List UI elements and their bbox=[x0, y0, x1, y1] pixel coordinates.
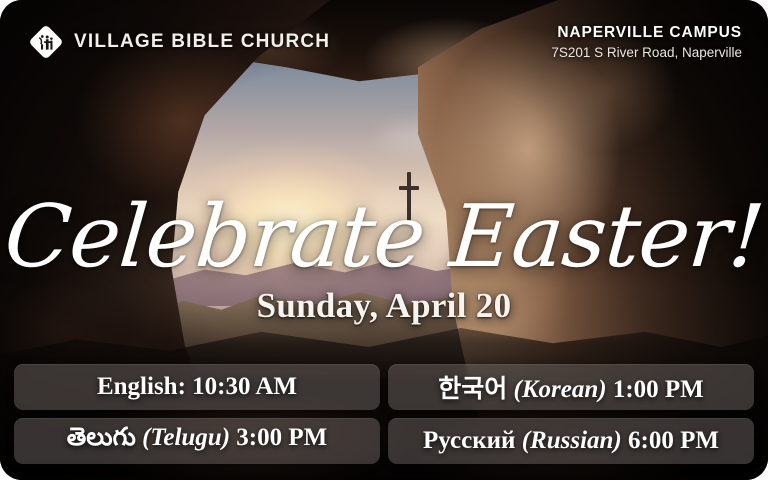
service-time-label: English: 10:30 AM bbox=[97, 373, 297, 401]
easter-service-poster: VILLAGE BIBLE CHURCH NAPERVILLE CAMPUS 7… bbox=[0, 0, 768, 480]
brand-lockup: VILLAGE BIBLE CHURCH bbox=[28, 24, 330, 60]
service-language-paren: (Russian) bbox=[522, 427, 622, 454]
service-language-native: తెలుగు bbox=[67, 424, 136, 451]
service-time-value: 6:00 PM bbox=[628, 427, 719, 454]
campus-info: NAPERVILLE CAMPUS 7S201 S River Road, Na… bbox=[551, 24, 742, 60]
service-language-native: 한국어 bbox=[438, 376, 507, 403]
service-time-value: 10:30 AM bbox=[192, 373, 297, 400]
service-time-telugu[interactable]: తెలుగు (Telugu) 3:00 PM bbox=[14, 418, 380, 464]
service-time-label: తెలుగు (Telugu) 3:00 PM bbox=[67, 424, 328, 458]
service-time-value: 1:00 PM bbox=[613, 376, 704, 403]
service-time-russian[interactable]: Русский (Russian) 6:00 PM bbox=[388, 418, 754, 464]
service-time-label: Русский (Russian) 6:00 PM bbox=[423, 427, 719, 455]
page-title: Celebrate Easter! bbox=[0, 198, 768, 277]
service-language-native: English: bbox=[97, 373, 186, 400]
service-language-paren: (Korean) bbox=[514, 376, 607, 403]
service-times-grid: English: 10:30 AM 한국어 (Korean) 1:00 PM త… bbox=[14, 364, 754, 464]
service-time-label: 한국어 (Korean) 1:00 PM bbox=[438, 369, 704, 405]
service-time-english[interactable]: English: 10:30 AM bbox=[14, 364, 380, 410]
service-language-native: Русский bbox=[423, 427, 515, 454]
event-date: Sunday, April 20 bbox=[0, 286, 768, 326]
brand-name: VILLAGE BIBLE CHURCH bbox=[74, 31, 330, 53]
service-time-value: 3:00 PM bbox=[236, 424, 327, 451]
poster-header: VILLAGE BIBLE CHURCH NAPERVILLE CAMPUS 7… bbox=[0, 0, 768, 84]
service-time-korean[interactable]: 한국어 (Korean) 1:00 PM bbox=[388, 364, 754, 410]
campus-address: 7S201 S River Road, Naperville bbox=[551, 45, 742, 60]
campus-name: NAPERVILLE CAMPUS bbox=[551, 24, 742, 42]
service-language-paren: (Telugu) bbox=[142, 424, 230, 451]
village-bible-church-diamond-logo-icon bbox=[28, 24, 64, 60]
